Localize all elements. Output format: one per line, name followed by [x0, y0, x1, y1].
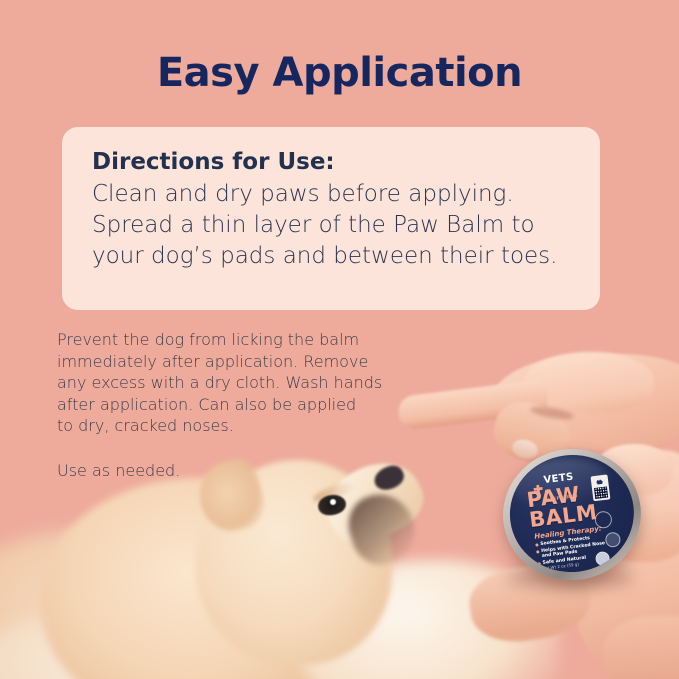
body-line: immediately after application. Remove: [57, 351, 387, 373]
directions-line: Spread a thin layer of the Paw Balm to: [92, 210, 574, 241]
body-line: after application. Can also be applied: [57, 394, 387, 416]
bullet-dot-icon: [535, 543, 538, 546]
dog-eye-highlight: [330, 499, 336, 505]
closing-note: Use as needed.: [57, 461, 180, 480]
bullet-dot-icon: [538, 563, 541, 566]
body-copy: Prevent the dog from licking the balm im…: [57, 329, 387, 437]
body-line: any excess with a dry cloth. Wash hands: [57, 372, 387, 394]
product-infographic: VETS PREFERRED PAW BALM Healing Therapy:…: [0, 0, 679, 679]
directions-line: Clean and dry paws before applying.: [92, 179, 574, 210]
paw-print-icon: [595, 477, 605, 486]
directions-card: Directions for Use: Clean and dry paws b…: [62, 127, 600, 310]
body-line: to dry, cracked noses.: [57, 415, 387, 437]
tin-qr-badge: [591, 474, 611, 501]
paw-balm-tin: VETS PREFERRED PAW BALM Healing Therapy:…: [496, 441, 649, 588]
directions-line: your dog’s pads and between their toes.: [92, 241, 574, 272]
bullet-dot-icon: [536, 550, 539, 553]
directions-heading: Directions for Use:: [92, 149, 574, 175]
page-title: Easy Application: [0, 50, 679, 96]
qr-code-icon: [594, 486, 608, 499]
body-line: Prevent the dog from licking the balm: [57, 329, 387, 351]
